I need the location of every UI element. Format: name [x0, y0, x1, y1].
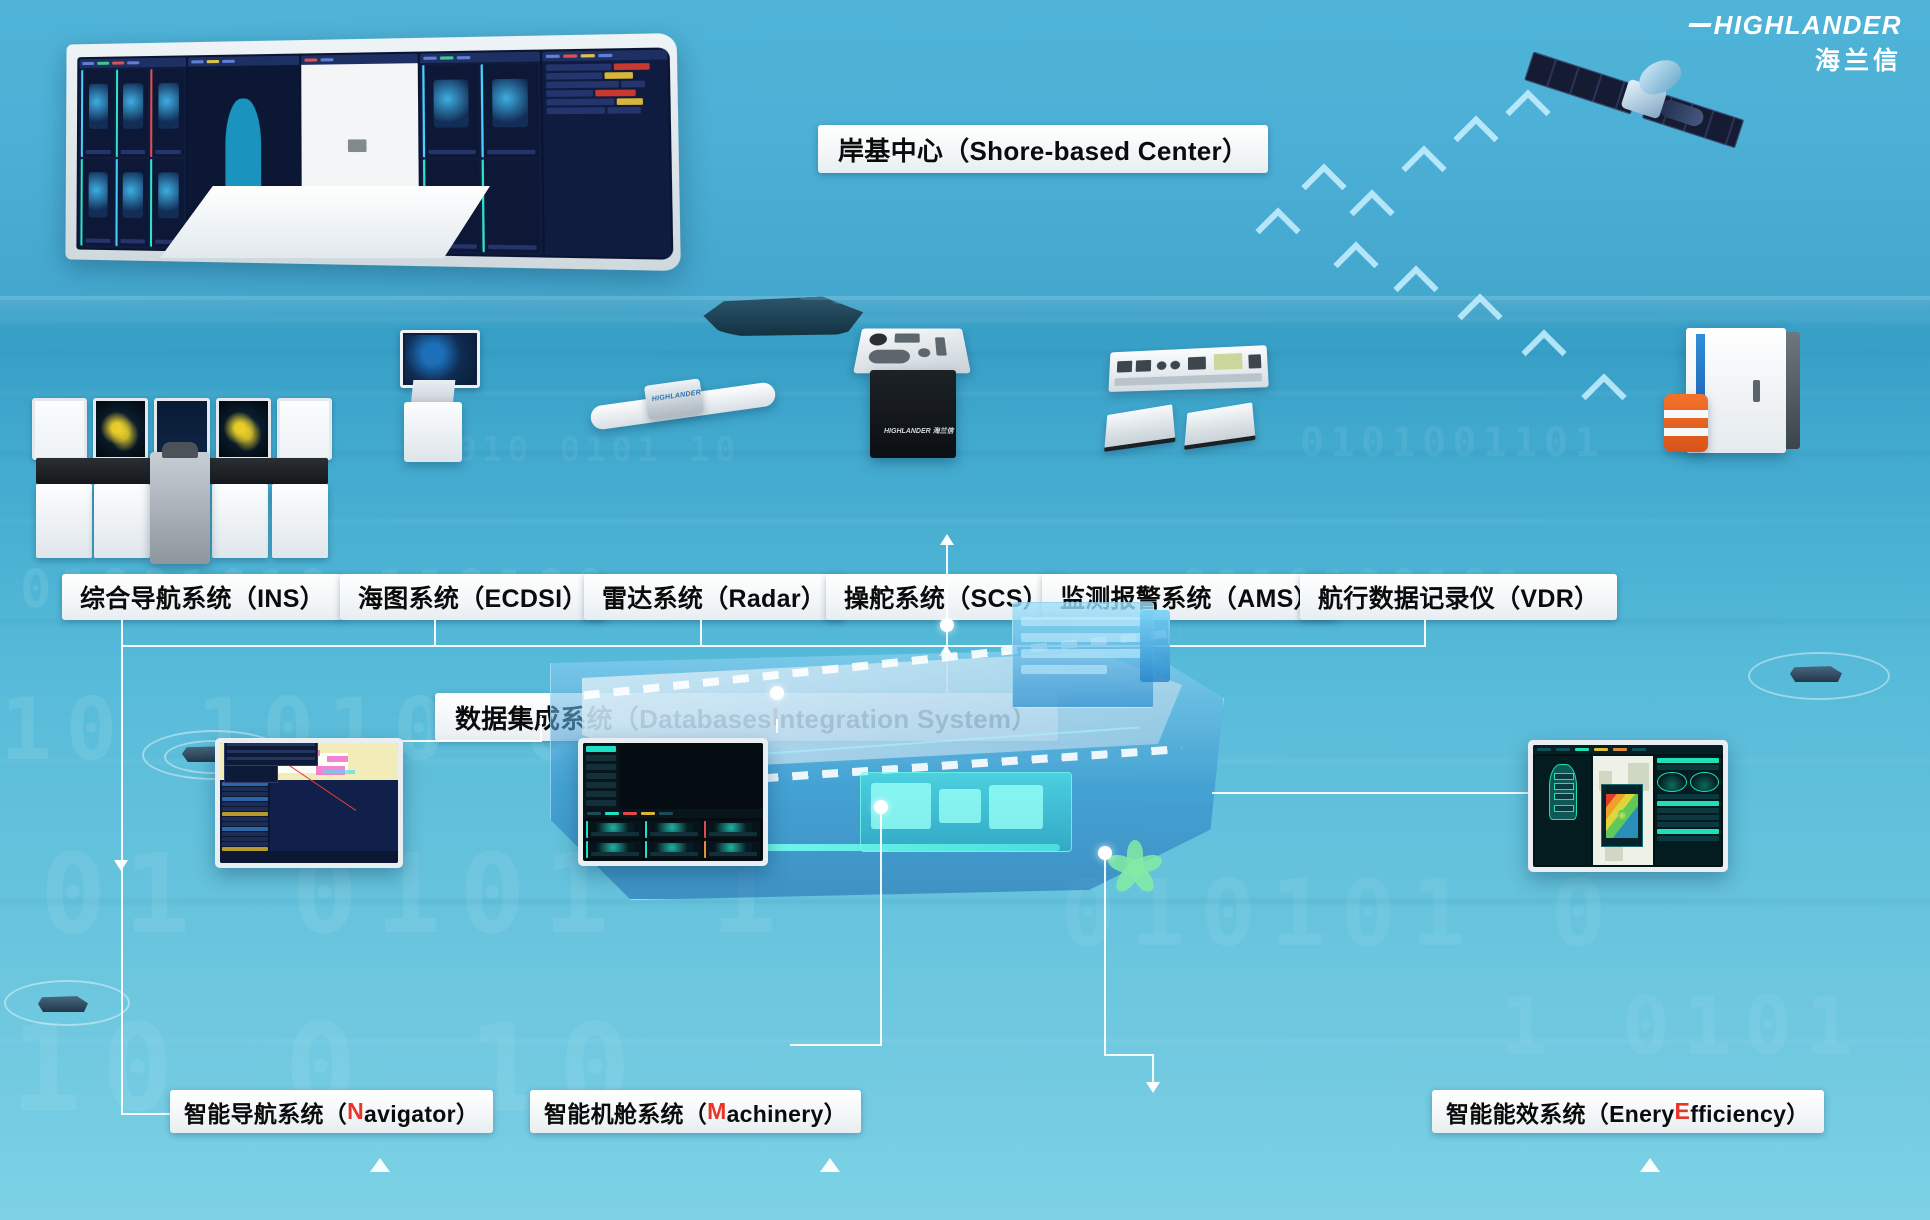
ins-monitor: [32, 398, 87, 460]
efficiency-body: [1533, 754, 1723, 867]
scs-control-panel: [853, 328, 971, 373]
ins-helm-pod: [150, 452, 210, 564]
machinery-suffix: achinery）: [727, 1095, 847, 1129]
bottom-pointer-icon: [820, 1158, 840, 1172]
arrow-up-icon: [940, 534, 954, 545]
ins-radar-monitor: [216, 398, 271, 460]
efficiency-titlebar: [1533, 745, 1723, 754]
bottom-pointer-icon: [1640, 1158, 1660, 1172]
machinery-accent: M: [707, 1098, 726, 1125]
alarm-row: [546, 107, 665, 114]
connector-stern-to-efficiency: [1104, 858, 1106, 1054]
signal-chevron-icon: [1333, 241, 1378, 286]
arrow-down-icon: [114, 860, 128, 871]
ins-radar-monitor: [93, 398, 148, 460]
ship-node-deck: [770, 686, 784, 700]
ins-cabinet: [36, 484, 92, 558]
label-shore-center[interactable]: 岸基中心（Shore-based Center）: [818, 125, 1268, 173]
connector: [790, 1044, 882, 1046]
panel-tile: [116, 69, 149, 156]
alarm-row: [546, 98, 665, 105]
ship-funnel: [1140, 610, 1170, 682]
navigator-screen: [220, 743, 398, 863]
efficiency-accent: E: [1675, 1098, 1691, 1125]
connector: [540, 716, 542, 742]
efficiency-heatmap-chart: [1606, 794, 1638, 838]
signal-chevron-icon: [1349, 189, 1394, 234]
label-vdr[interactable]: 航行数据记录仪（VDR）: [1300, 574, 1617, 620]
efficiency-heatmap-popup: [1601, 784, 1643, 847]
machinery-monitor: [578, 738, 768, 866]
navigator-prefix: 智能导航系统（: [184, 1095, 347, 1129]
signal-chevron-icon: [1401, 145, 1446, 190]
alarm-row: [546, 89, 664, 97]
efficiency-suffix: fficiency）: [1690, 1095, 1809, 1129]
ship-superstructure: [1012, 602, 1154, 708]
ecdis-chart-view: [220, 743, 398, 780]
machinery-sidebar: [583, 743, 619, 809]
ins-cabinet: [212, 484, 268, 558]
connector: [776, 719, 778, 733]
wall-panel-alarms: [542, 50, 671, 258]
alarm-row: [546, 72, 664, 80]
panel-tile: [151, 69, 185, 157]
scs-pedestal: HIGHLANDER 海兰信: [870, 370, 956, 458]
radar-antenna: HIGHLANDER: [590, 362, 780, 442]
bottom-pointer-icon: [370, 1158, 390, 1172]
wave-line: [0, 1040, 1930, 1043]
ams-main-unit: [1108, 345, 1268, 392]
infographic-canvas: 01001010 110100 10 1010 0101 01 0101 1 1…: [0, 0, 1930, 1220]
machinery-titlebar: [583, 809, 763, 818]
connector-ins-to-navigator: [121, 645, 123, 1115]
panel-alarm-list: [542, 60, 671, 258]
ship-engine-room: [860, 772, 1072, 852]
efficiency-gauges-panel: [1655, 756, 1721, 865]
ins-cabinet: [94, 484, 150, 558]
logo-english: HIGHLANDER: [1714, 12, 1902, 38]
voyage-data-recorder-cabinet: [1664, 328, 1814, 460]
vdr-door-handle: [1753, 380, 1760, 402]
machinery-tile-grid: [583, 818, 763, 861]
propeller-shaft: [730, 844, 1060, 851]
navigator-statusbar: [220, 851, 398, 863]
panel-tile: [481, 159, 540, 253]
connector-engine-to-machinery: [880, 812, 882, 1044]
connector: [1104, 1054, 1154, 1056]
signal-chevron-icon: [1301, 163, 1346, 208]
vdr-side-panel: [1786, 332, 1800, 449]
connector: [1424, 620, 1426, 646]
panel-tile: [480, 64, 539, 157]
logo-dash-icon: [1688, 23, 1711, 27]
alarm-row: [546, 80, 664, 88]
connector: [946, 540, 948, 624]
navigator-suffix: avigator）: [364, 1095, 479, 1129]
label-ins[interactable]: 综合导航系统（INS）: [62, 574, 343, 620]
panel-tile: [80, 159, 113, 247]
capsule-band: [1664, 428, 1708, 436]
signal-chevron-icon: [1453, 115, 1498, 160]
sonar-ring: [1748, 652, 1890, 700]
connector: [121, 620, 123, 646]
efficiency-monitor: [1528, 740, 1728, 872]
steering-console: HIGHLANDER 海兰信: [858, 318, 968, 458]
ship-propeller: [1105, 834, 1163, 894]
gauge-pair: [1657, 772, 1719, 792]
ecdis-cabinet: [404, 402, 462, 462]
ams-io-card: [1104, 404, 1175, 451]
vdr-float-free-capsule: [1664, 394, 1708, 452]
control-room-desk: [160, 186, 490, 258]
label-efficiency[interactable]: 智能能效系统（Enery Efficiency）: [1432, 1090, 1824, 1133]
panel-tile-grid: [78, 67, 186, 250]
logo-english-wrap: HIGHLANDER: [1689, 12, 1902, 38]
efficiency-map: [1593, 756, 1653, 865]
connector: [434, 620, 436, 646]
machinery-tile: [645, 821, 701, 838]
label-navigator[interactable]: 智能导航系统（Navigator）: [170, 1090, 493, 1133]
arrow-down-icon: [1146, 1082, 1160, 1093]
panel-tile: [422, 64, 479, 156]
satellite-icon: [1520, 42, 1740, 162]
ins-cabinet: [272, 484, 328, 558]
alarm-monitoring-units: [1098, 348, 1288, 458]
connector-bow-to-efficiency: [1212, 792, 1532, 794]
machinery-tile: [586, 821, 642, 838]
integrated-navigation-console: [32, 398, 332, 558]
machinery-tile: [704, 821, 760, 838]
ecdis-kiosk: [390, 330, 476, 460]
machinery-tile: [645, 841, 701, 858]
label-machinery[interactable]: 智能机舱系统（Machinery）: [530, 1090, 861, 1133]
panel-tile: [81, 70, 114, 157]
ship-outline-icon: [1549, 764, 1577, 820]
capsule-band: [1664, 410, 1708, 418]
machinery-main: [583, 809, 763, 861]
navigator-monitor: [215, 738, 403, 868]
ams-io-card: [1184, 402, 1255, 449]
machinery-screen: [583, 743, 763, 861]
efficiency-screen: [1533, 745, 1723, 867]
machinery-tile: [586, 841, 642, 858]
efficiency-prefix: 智能能效系统（Enery: [1446, 1095, 1675, 1129]
efficiency-ship-view: [1535, 756, 1591, 865]
ins-monitor: [277, 398, 332, 460]
navigator-accent: N: [347, 1098, 364, 1125]
wall-panel-overview: [78, 57, 186, 249]
machinery-tile: [704, 841, 760, 858]
sonar-ring: [4, 980, 130, 1026]
signal-chevron-icon: [1255, 207, 1300, 252]
panel-tile: [115, 159, 148, 247]
chart-data-table: [224, 743, 318, 766]
alarm-row: [546, 63, 664, 71]
machinery-prefix: 智能机舱系统（: [544, 1095, 707, 1129]
